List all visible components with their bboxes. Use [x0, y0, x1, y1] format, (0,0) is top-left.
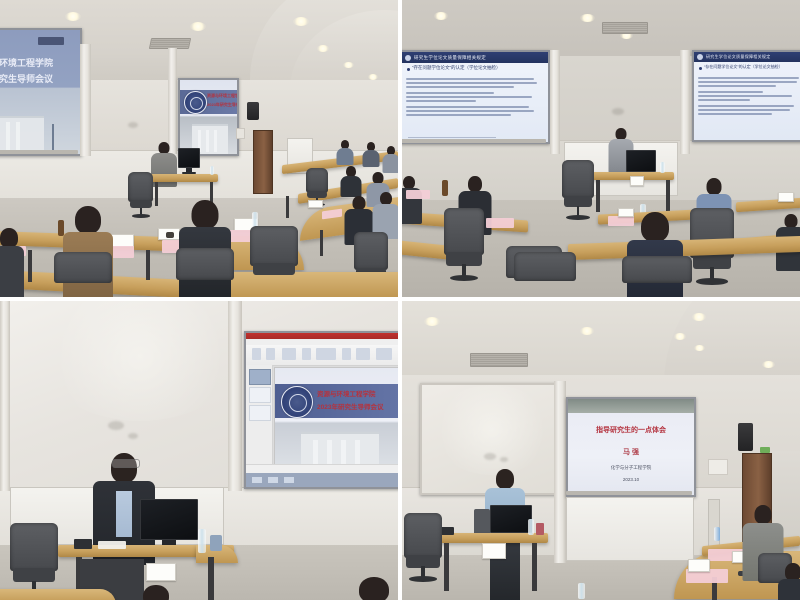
- slide-content: 市环境工程学院 研究生导师会议: [0, 30, 80, 154]
- cup: [166, 232, 174, 238]
- front-desk: [0, 589, 116, 600]
- cup: [536, 523, 544, 535]
- wall-mark: [500, 457, 508, 462]
- downlight: [434, 12, 448, 20]
- wall-sign: [708, 459, 728, 475]
- projection-screen-powerpoint: 资源与环境工程学院 2023年研究生导师会议: [244, 331, 398, 489]
- slide-header: 研究生学位论文质量保障相关规定: [694, 52, 800, 62]
- collage-pane-top-right: 研究生学位论文质量保障相关规定 “存在问题学位论文”的认定（学位论文抽检）: [402, 0, 800, 297]
- water-bottle: [210, 166, 214, 175]
- slide-bullet-text: “存在问题学位论文”的认定（学位论文抽检）: [704, 64, 783, 70]
- desk-leg: [155, 182, 158, 206]
- pillar: [228, 301, 242, 491]
- pillar: [0, 301, 10, 491]
- attendee-foreground: [0, 228, 24, 297]
- water-bottle: [198, 529, 206, 553]
- eyeglasses-icon: [112, 459, 140, 468]
- control-panel[interactable]: [74, 539, 92, 549]
- name-card: [630, 176, 644, 186]
- downlight: [692, 313, 706, 321]
- collage-pane-top-left: 市环境工程学院 研究生导师会议 资源与环境工程学院 2023年研究生导师会议: [0, 0, 398, 297]
- desk-leg: [286, 196, 289, 218]
- slide-content: 指导研究生的一点体会 马 强 化学与分子工程学院 2023.10: [568, 399, 694, 495]
- slide-title-line-1: 资源与环境工程学院: [207, 93, 237, 99]
- handout-paper: [406, 190, 430, 199]
- slide-line-2: 研究生导师会议: [0, 72, 53, 85]
- name-card: [482, 543, 506, 559]
- slide-title: 指导研究生的一点体会: [568, 425, 694, 435]
- name-card: [778, 192, 794, 202]
- office-chair: [562, 160, 594, 222]
- office-chair: [176, 248, 234, 297]
- powerpoint-ribbon: [246, 345, 398, 366]
- projection-screen-title-slide: 指导研究生的一点体会 马 强 化学与分子工程学院 2023.10: [566, 397, 696, 497]
- screen-frame: [566, 491, 692, 495]
- slide-date: 2023.10: [568, 477, 694, 482]
- desk-leg: [596, 180, 600, 212]
- name-card: [308, 200, 323, 208]
- water-bottle: [528, 519, 534, 535]
- collage-pane-bottom-left: 资源与环境工程学院 2023年研究生导师会议: [0, 301, 398, 600]
- projection-screen-left: 研究生学位论文质量保障相关规定 “存在问题学位论文”的认定（学位论文抽检）: [402, 50, 550, 144]
- floor-stand: [708, 499, 720, 549]
- office-chair: [622, 256, 692, 297]
- attendee: [362, 142, 380, 166]
- thermos-cup: [442, 180, 448, 196]
- podium-desk: [150, 174, 218, 182]
- attendee: [340, 166, 362, 196]
- powerpoint-notes-pane[interactable]: [246, 464, 398, 473]
- slide-affiliation: 化学与分子工程学院: [568, 465, 694, 471]
- collage-pane-bottom-right: 指导研究生的一点体会 马 强 化学与分子工程学院 2023.10: [402, 301, 800, 600]
- downlight: [762, 361, 775, 368]
- slide-title-line-1: 资源与环境工程学院: [317, 388, 376, 398]
- wall-mark: [108, 421, 124, 430]
- presenter-shirt: [116, 491, 132, 537]
- slide-content: 研究生学位论文质量保障相关规定 “存在问题学位论文”的认定（学位论文抽检）: [402, 52, 548, 142]
- downlight: [674, 333, 686, 340]
- name-card: [146, 563, 176, 581]
- attendee: [402, 176, 422, 224]
- ceiling-vent: [470, 353, 528, 367]
- projection-screen-right: 研究生学位论文质量保障相关规定 “存在问题学位论文”的认定（学位论文抽检）: [692, 50, 800, 142]
- wall-mark: [128, 122, 138, 128]
- office-chair: [404, 513, 442, 585]
- water-bottle: [578, 583, 585, 599]
- downlight: [293, 17, 309, 26]
- wall-speaker: [247, 102, 259, 120]
- downlight: [190, 22, 206, 31]
- downlight: [317, 45, 329, 52]
- attendee: [382, 146, 398, 172]
- wall-mark: [612, 108, 624, 115]
- main-projection-screen-left: 市环境工程学院 研究生导师会议: [0, 28, 82, 156]
- door: [253, 130, 273, 194]
- slide-presenter: 马 强: [568, 447, 694, 457]
- wall-mark: [484, 453, 496, 460]
- downlight: [694, 345, 705, 351]
- water-bottle: [714, 527, 720, 541]
- slide-title-line-2: 2023年研究生导师会议: [317, 401, 383, 411]
- screen-glare: [432, 385, 552, 475]
- ceiling-vent: [602, 22, 648, 34]
- microphone: [474, 509, 490, 535]
- slide-thumbnail-panel[interactable]: [246, 365, 273, 475]
- whiteboard: [566, 497, 694, 561]
- pillar: [554, 381, 566, 563]
- slide-header: 研究生学位论文质量保障相关规定: [402, 52, 548, 63]
- desk-leg: [444, 543, 449, 591]
- downlight: [580, 14, 595, 22]
- slide-header-bullet-icon: [405, 55, 411, 61]
- wall-speaker: [738, 423, 753, 451]
- pen-holder: [210, 535, 222, 551]
- pillar: [550, 50, 560, 154]
- slide-title-line-2: 2023年研究生导师会议: [207, 102, 237, 108]
- slide-header-text: 研究生学位论文质量保障相关规定: [414, 55, 486, 61]
- slide-content: 研究生学位论文质量保障相关规定 “存在问题学位论文”的认定（学位论文抽检）: [694, 52, 800, 140]
- desk-leg: [320, 230, 323, 256]
- screen-frame: [402, 139, 546, 143]
- wall-sign: [236, 128, 245, 139]
- slide-bullet-text: “存在问题学位论文”的认定（学位论文抽检）: [412, 65, 501, 71]
- slide-content: 资源与环境工程学院 2023年研究生导师会议: [180, 80, 237, 154]
- desk-leg: [532, 543, 537, 591]
- downlight: [580, 327, 594, 335]
- attendee-foreground: [346, 577, 398, 600]
- office-chair: [250, 226, 298, 290]
- pillar: [168, 48, 177, 154]
- desk-leg: [28, 250, 32, 282]
- office-chair: [54, 252, 112, 297]
- pillar: [80, 44, 91, 156]
- handout-paper: [98, 541, 126, 549]
- screen-frame: [0, 150, 78, 154]
- office-chair: [444, 208, 484, 284]
- podium-monitor: [178, 148, 200, 174]
- handout-paper: [486, 218, 514, 228]
- attendee-foreground: [132, 585, 180, 600]
- attendee: [336, 140, 354, 164]
- slide-line-1: 市环境工程学院: [0, 56, 53, 69]
- secondary-projection-screen: 资源与环境工程学院 2023年研究生导师会议: [178, 78, 239, 156]
- water-bottle: [660, 162, 665, 173]
- office-chair: [514, 252, 576, 297]
- powerpoint-status-bar: [246, 473, 398, 487]
- slide-editing-canvas[interactable]: 资源与环境工程学院 2023年研究生导师会议: [274, 367, 398, 475]
- slide-header-bullet-icon: [697, 54, 703, 60]
- slide-header-text: 研究生学位论文质量保障相关规定: [706, 54, 771, 60]
- desk-leg: [208, 557, 214, 600]
- desk-leg: [666, 180, 670, 212]
- podium-monitor: [140, 499, 198, 551]
- wall-mark: [128, 433, 138, 439]
- downlight: [424, 317, 440, 326]
- name-card: [688, 559, 710, 572]
- photo-collage: 市环境工程学院 研究生导师会议 资源与环境工程学院 2023年研究生导师会议: [0, 0, 800, 600]
- downlight: [65, 12, 81, 21]
- pillar: [680, 50, 690, 154]
- desk-leg: [146, 250, 150, 280]
- office-chair: [128, 172, 153, 220]
- attendee-foreground: [778, 563, 800, 600]
- downlight: [343, 62, 354, 68]
- ceiling-curve: [664, 301, 800, 385]
